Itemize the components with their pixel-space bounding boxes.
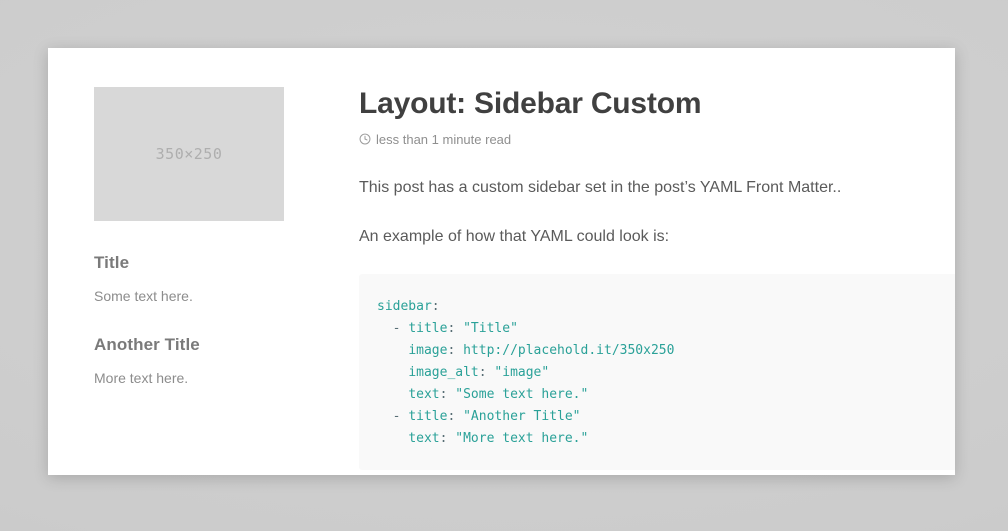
sidebar-block-another-title: Another Title More text here. (94, 335, 284, 389)
post-article: Layout: Sidebar Custom less than 1 minut… (267, 87, 955, 470)
post-paragraph-intro: This post has a custom sidebar set in th… (359, 176, 955, 199)
yaml-code-block: sidebar: - title: "Title" image: http://… (359, 274, 955, 470)
sidebar-block-heading: Title (94, 253, 284, 273)
page-card: 350×250 Title Some text here. Another Ti… (48, 48, 955, 475)
post-sidebar: 350×250 Title Some text here. Another Ti… (48, 87, 267, 388)
post-meta: less than 1 minute read (359, 132, 955, 147)
post-layout: 350×250 Title Some text here. Another Ti… (48, 48, 955, 470)
page-title: Layout: Sidebar Custom (359, 87, 955, 122)
clock-icon (359, 133, 371, 145)
sidebar-placeholder-image: 350×250 (94, 87, 284, 221)
yaml-code-content: sidebar: - title: "Title" image: http://… (377, 296, 955, 450)
sidebar-block-text: Some text here. (94, 287, 284, 307)
sidebar-block-heading: Another Title (94, 335, 284, 355)
sidebar-block-text: More text here. (94, 369, 284, 389)
sidebar-placeholder-label: 350×250 (156, 145, 223, 163)
sidebar-block-title: Title Some text here. (94, 253, 284, 307)
read-time-label: less than 1 minute read (376, 132, 511, 147)
post-paragraph-example: An example of how that YAML could look i… (359, 225, 955, 248)
